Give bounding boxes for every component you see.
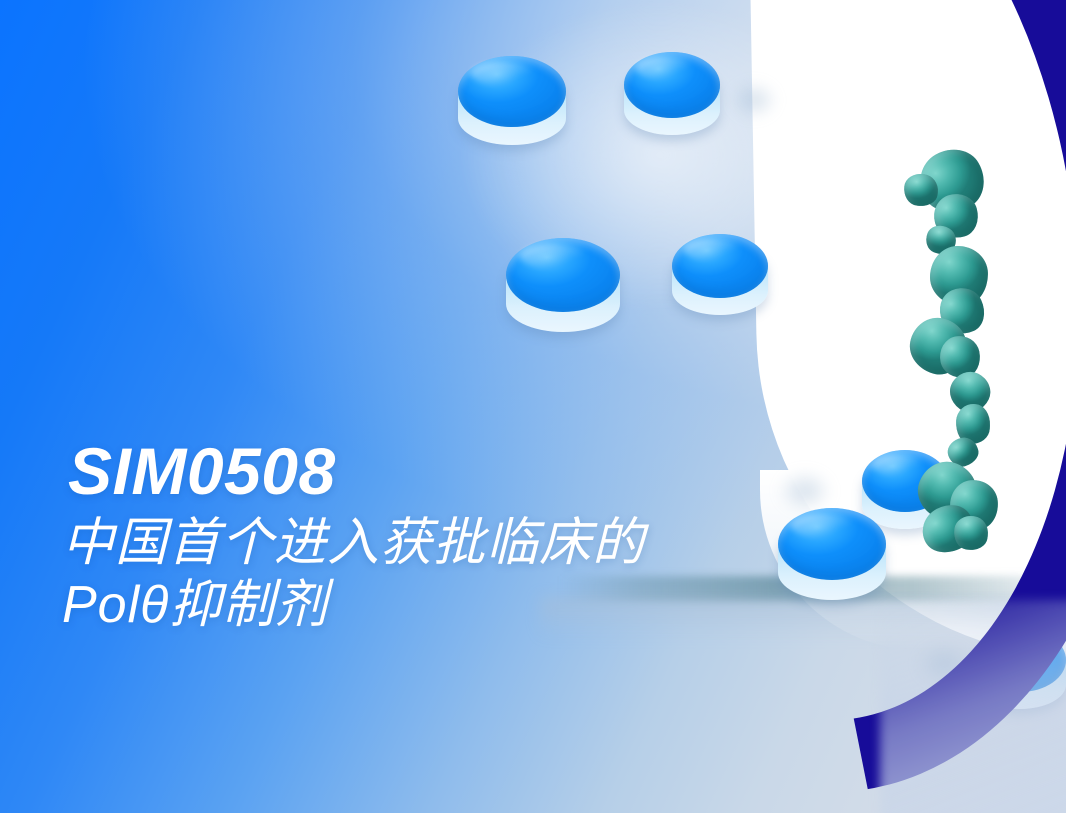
promo-banner: SIM0508 中国首个进入获批临床的 Polθ抑制剂	[0, 0, 1066, 813]
subtitle-line-2: Polθ抑制剂	[62, 576, 842, 634]
pill-top	[672, 234, 768, 298]
subtitle-line-1: 中国首个进入获批临床的	[62, 514, 842, 572]
drug-code-title: SIM0508	[68, 438, 842, 504]
pill-top-left	[458, 56, 566, 142]
headline-block: SIM0508 中国首个进入获批临床的 Polθ抑制剂	[62, 438, 842, 634]
pill-mid-right	[672, 234, 768, 312]
pill-top	[458, 56, 566, 127]
pill-gloss	[520, 244, 586, 269]
pill-top	[624, 52, 720, 118]
pill-mid-left	[506, 238, 620, 328]
pill-top-right	[624, 52, 720, 132]
navy-curved-band-fade	[880, 600, 1066, 813]
pill-top	[506, 238, 620, 312]
pill-gloss	[636, 57, 692, 79]
pill-gloss	[684, 239, 740, 261]
pill-gloss	[471, 62, 534, 86]
polymerase-theta-protein-ribbon	[896, 150, 1036, 580]
